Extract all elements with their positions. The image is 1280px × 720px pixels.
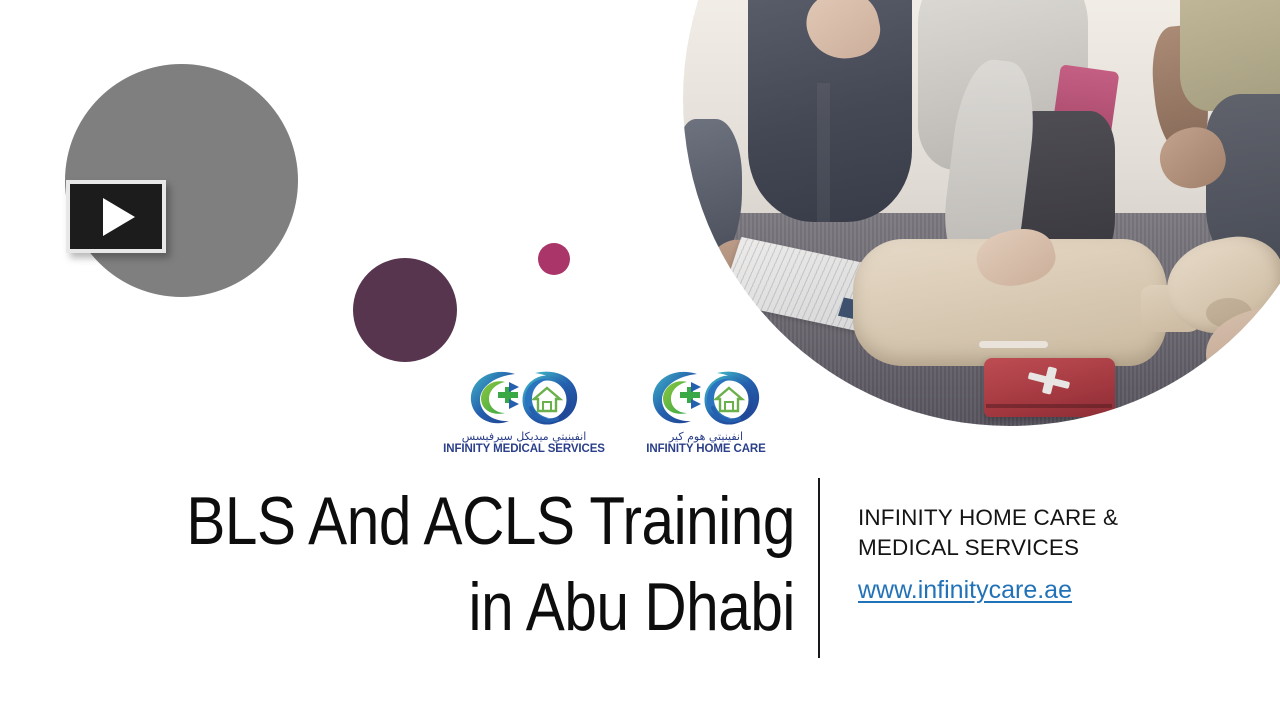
photo-scene: [683, 0, 1280, 426]
photo-first-aid-kit-zip: [986, 404, 1112, 408]
photo-manikin-chest-plate: [979, 341, 1048, 349]
photo-first-aid-kit: [984, 358, 1115, 418]
presentation-slide: انفينيتي ميديكل سيرفيسس INFINITY MEDICAL…: [0, 0, 1280, 720]
logo-infinity-home-care: انفينيتي هوم كير INFINITY HOME CARE: [632, 368, 780, 456]
vertical-divider: [818, 478, 820, 658]
play-icon: [103, 198, 135, 236]
infinity-swoosh-house-icon: [647, 368, 765, 430]
slide-title: BLS And ACLS Training in Abu Dhabi: [146, 478, 795, 651]
decor-circle-magenta-small: [538, 243, 570, 275]
logo-english-text: INFINITY MEDICAL SERVICES: [443, 443, 605, 456]
play-video-button[interactable]: [66, 180, 166, 253]
cpr-training-photo: [683, 0, 1280, 426]
title-block: BLS And ACLS Training in Abu Dhabi: [40, 478, 795, 651]
infinity-swoosh-house-icon: [465, 368, 583, 430]
logo-infinity-medical-services: انفينيتي ميديكل سيرفيسس INFINITY MEDICAL…: [450, 368, 598, 456]
photo-inner: [683, 0, 1280, 426]
logo-group: انفينيتي ميديكل سيرفيسس INFINITY MEDICAL…: [450, 368, 800, 466]
company-info-block: INFINITY HOME CARE & MEDICAL SERVICES ww…: [858, 503, 1218, 605]
logo-arabic-text: انفينيتي هوم كير: [669, 431, 743, 442]
company-name: INFINITY HOME CARE & MEDICAL SERVICES: [858, 503, 1218, 562]
logo-english-text: INFINITY HOME CARE: [646, 443, 765, 456]
decor-circle-purple-large: [353, 258, 457, 362]
website-link[interactable]: www.infinitycare.ae: [858, 576, 1072, 605]
logo-arabic-text: انفينيتي ميديكل سيرفيسس: [462, 431, 587, 442]
